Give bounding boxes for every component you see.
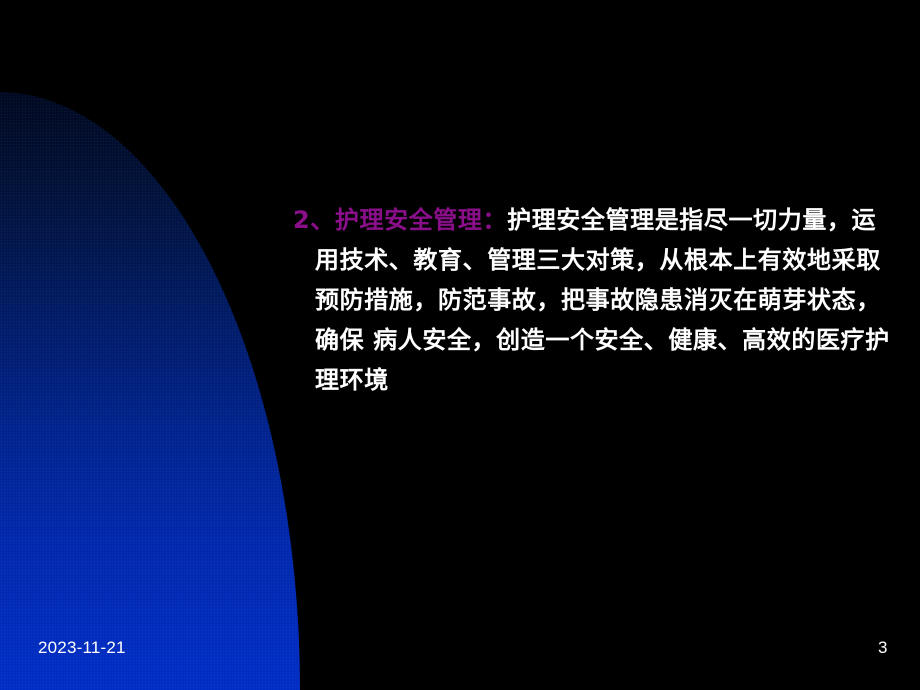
heading-run-text: 2、护理安全管理： [293, 206, 507, 234]
blue-ellipse-decoration [0, 92, 300, 690]
slide-body-text: 2、护理安全管理：护理安全管理是指尽一切力量，运用技术、教育、管理三大对策，从根… [293, 200, 893, 400]
body-run-continuation: 尽一切力量，运用技术、教育、管理三大对策，从根本上有效地采取预防措施，防范事故，… [315, 206, 890, 394]
heading-inline-run: 2、护理安全管理：护理安全管理是指 [293, 206, 704, 234]
body-paragraph: 2、护理安全管理：护理安全管理是指尽一切力量，运用技术、教育、管理三大对策，从根… [293, 200, 893, 400]
footer-date: 2023-11-21 [38, 638, 126, 658]
slide-canvas: 2、护理安全管理：护理安全管理是指尽一切力量，运用技术、教育、管理三大对策，从根… [0, 0, 920, 690]
body-run-first-line: 护理安全管理是指 [507, 206, 704, 234]
footer-page-number: 3 [878, 638, 887, 658]
